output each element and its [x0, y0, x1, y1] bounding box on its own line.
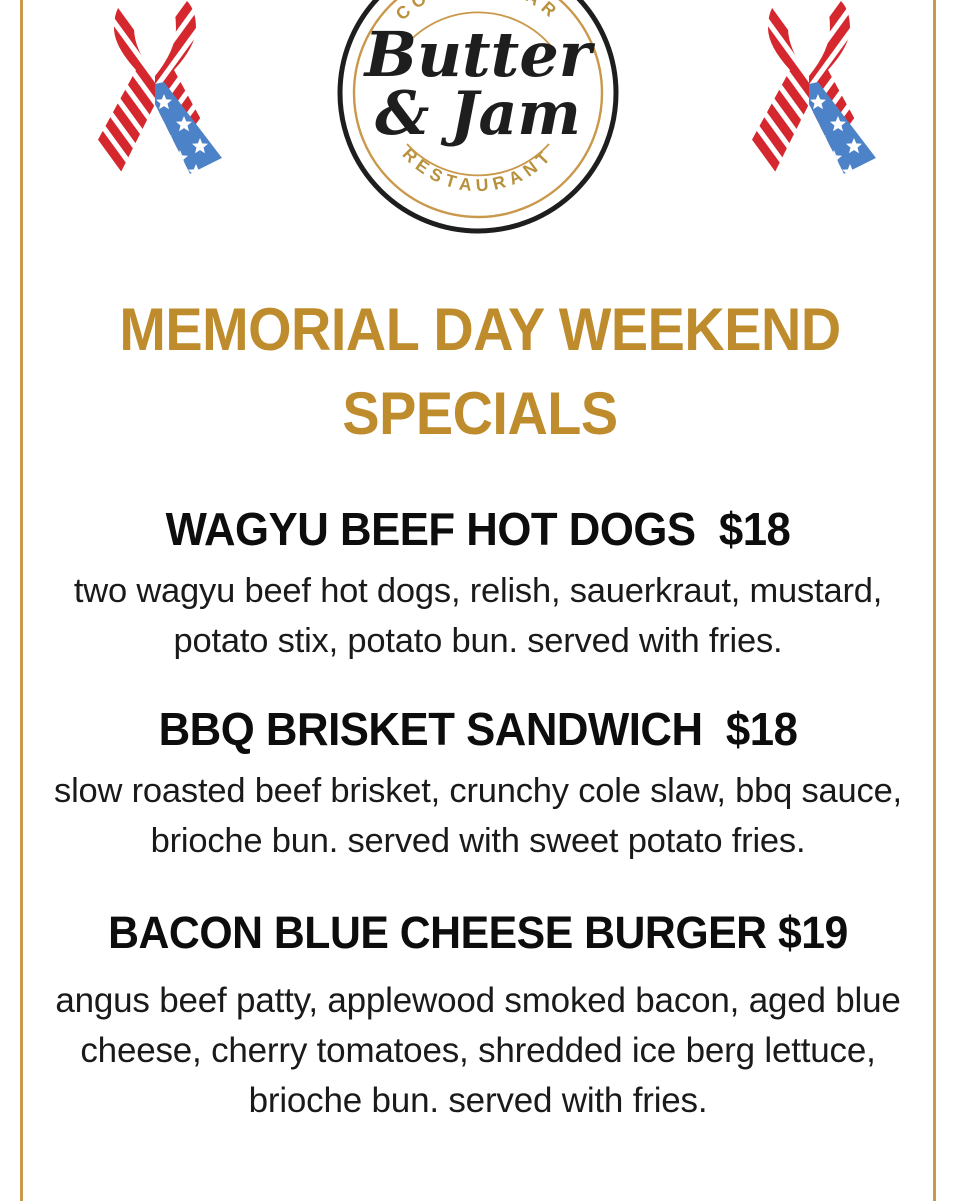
- menu-item-title: BBQ BRISKET SANDWICH $18: [43, 700, 913, 758]
- menu-item-description: two wagyu beef hot dogs, relish, sauerkr…: [20, 566, 936, 666]
- menu-item: WAGYU BEEF HOT DOGS $18 two wagyu beef h…: [20, 500, 936, 666]
- patriotic-ribbon-icon: [80, 0, 230, 178]
- memorial-day-specials-flyer: COFFEE BAR RESTAURANT Butter & Jam: [0, 0, 960, 1201]
- menu-item-description: angus beef patty, applewood smoked bacon…: [20, 976, 936, 1126]
- flyer-header: COFFEE BAR RESTAURANT Butter & Jam: [24, 0, 932, 236]
- page-title: MEMORIAL DAY WEEKEND SPECIALS: [71, 288, 889, 456]
- logo-script-line-2: & Jam: [375, 79, 581, 149]
- menu-item: BACON BLUE CHEESE BURGER $19 angus beef …: [20, 904, 936, 1126]
- menu-item-title: BACON BLUE CHEESE BURGER $19: [43, 904, 913, 962]
- patriotic-ribbon-icon: [734, 0, 884, 178]
- menu-item: BBQ BRISKET SANDWICH $18 slow roasted be…: [20, 700, 936, 866]
- specials-menu: WAGYU BEEF HOT DOGS $18 two wagyu beef h…: [20, 500, 936, 1126]
- butter-and-jam-logo: COFFEE BAR RESTAURANT Butter & Jam: [333, 0, 623, 238]
- menu-item-description: slow roasted beef brisket, crunchy cole …: [20, 766, 936, 866]
- menu-item-title: WAGYU BEEF HOT DOGS $18: [43, 500, 913, 558]
